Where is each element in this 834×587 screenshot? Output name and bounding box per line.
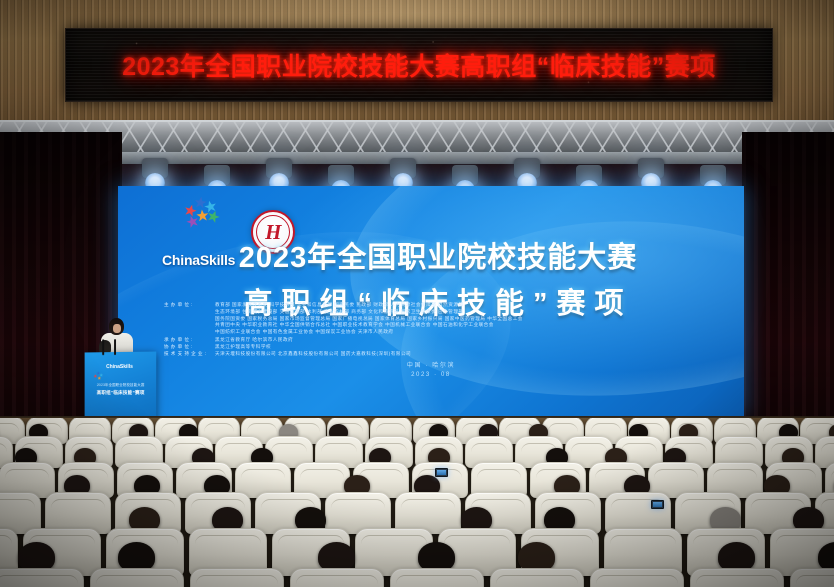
stage-led-screen: ChinaSkills H 2023年全国职业院校技能大赛 高职组“临床技能”赛… xyxy=(118,186,744,416)
podium-star-logo xyxy=(92,362,103,371)
microphone-right xyxy=(114,339,116,355)
auditorium-seat xyxy=(290,568,384,587)
auditorium-seat xyxy=(790,568,834,587)
organizer-label: 协办单位: xyxy=(164,344,210,350)
screen-location: 中国 · 哈尔滨 xyxy=(118,362,744,371)
emblem-letter: H xyxy=(265,222,281,243)
podium-title-line2: 高职组“临床技能”赛项 xyxy=(89,390,152,396)
organizer-values: 黑龙江护理高等专科学校 xyxy=(215,344,704,351)
auditorium-seat xyxy=(590,568,684,587)
led-banner: 2023年全国职业院校技能大赛高职组“临床技能”赛项 xyxy=(65,28,773,102)
organizer-values: 黑龙江省教育厅 哈尔滨市人民政府 xyxy=(215,337,704,344)
screen-organizer-block: 主办单位:教育部 国家发展改革委 科学技术部 工业和信息化部 国家民委 民政部 … xyxy=(164,302,704,359)
auditorium-seat xyxy=(0,568,84,587)
audience-phone-screen xyxy=(651,500,664,509)
chinaskills-star-logo xyxy=(176,196,222,236)
auditorium-seat xyxy=(190,568,284,587)
podium-wordmark: ChinaSkills xyxy=(106,363,133,369)
organizer-label: 技术支持企业: xyxy=(164,351,210,357)
audience-phone-screen xyxy=(435,468,448,477)
organizer-values: 天津天堰科技股份有限公司 北京鑫鑫科技股份有限公司 国药大嘉教科技(深圳)有限公… xyxy=(215,351,704,358)
speaker-face xyxy=(113,324,121,333)
screen-title-line1: 2023年全国职业院校技能大赛 xyxy=(158,234,718,276)
led-banner-text: 2023年全国职业院校技能大赛高职组“临床技能”赛项 xyxy=(122,47,716,83)
auditorium-seat xyxy=(390,568,484,587)
organizer-row: 主办单位:教育部 国家发展改革委 科学技术部 工业和信息化部 国家民委 民政部 … xyxy=(164,302,704,336)
organizer-row: 技术支持企业:天津天堰科技股份有限公司 北京鑫鑫科技股份有限公司 国药大嘉教科技… xyxy=(164,351,704,358)
organizer-label: 承办单位: xyxy=(164,337,210,343)
organizer-row: 承办单位:黑龙江省教育厅 哈尔滨市人民政府 xyxy=(164,337,704,344)
auditorium-seat xyxy=(490,568,584,587)
organizer-row: 协办单位:黑龙江护理高等专科学校 xyxy=(164,344,704,351)
organizer-label: 主办单位: xyxy=(164,302,210,308)
auditorium-scene: 2023年全国职业院校技能大赛高职组“临床技能”赛项 ChinaSkills H… xyxy=(0,0,834,587)
screen-date: 2023 · 08 xyxy=(118,371,744,380)
podium-brand-row: ChinaSkills xyxy=(92,362,133,371)
microphone-left xyxy=(102,339,104,355)
truss-cross-braces xyxy=(0,122,834,156)
auditorium-seat xyxy=(90,568,184,587)
organizer-values: 教育部 国家发展改革委 科学技术部 工业和信息化部 国家民委 民政部 财政部 人… xyxy=(215,302,704,336)
podium-title-line1: 2023年全国职业院校技能大赛 xyxy=(89,382,152,387)
auditorium-seat xyxy=(690,568,784,587)
stage-curtain-right xyxy=(742,132,834,432)
screen-location-date: 中国 · 哈尔滨 2023 · 08 xyxy=(118,362,744,380)
audience-seating xyxy=(0,418,834,587)
